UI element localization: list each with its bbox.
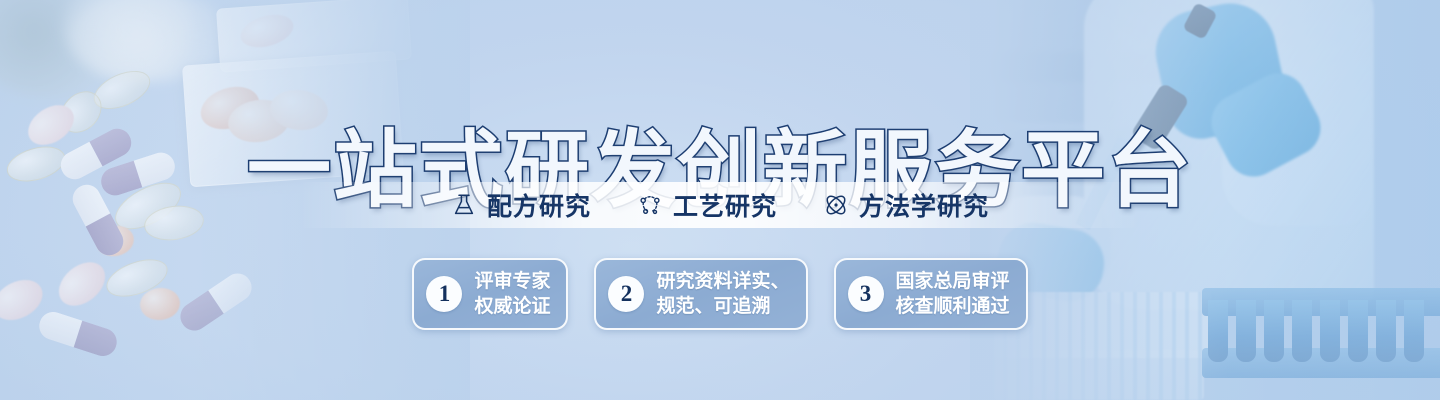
molecule-icon: [637, 192, 663, 218]
badge-text-line2: 核查顺利通过: [896, 296, 1010, 317]
feature-badge-3[interactable]: 3 国家总局审评 核查顺利通过: [834, 258, 1028, 330]
badge-number: 2: [608, 276, 644, 312]
atom-icon: [823, 192, 849, 218]
service-label: 工艺研究: [673, 187, 777, 223]
badge-text: 国家总局审评 核查顺利通过: [896, 269, 1010, 319]
badge-number: 3: [848, 276, 884, 312]
service-item-process[interactable]: 工艺研究: [637, 187, 777, 223]
service-item-methodology[interactable]: 方法学研究: [823, 187, 989, 223]
service-list: 配方研究 工艺研究: [0, 182, 1440, 228]
badge-text-line1: 研究资料详实、: [656, 271, 789, 292]
badge-text-line2: 规范、可追溯: [656, 296, 770, 317]
feature-badge-2[interactable]: 2 研究资料详实、 规范、可追溯: [594, 258, 807, 330]
badge-number: 1: [426, 276, 462, 312]
service-label: 配方研究: [487, 187, 591, 223]
flask-icon: [451, 192, 477, 218]
badge-text-line2: 权威论证: [474, 296, 550, 317]
badge-text-line1: 国家总局审评: [896, 271, 1010, 292]
badge-text: 评审专家 权威论证: [474, 269, 550, 319]
badge-text-line1: 评审专家: [474, 271, 550, 292]
feature-badge-1[interactable]: 1 评审专家 权威论证: [412, 258, 568, 330]
promo-banner: 一站式研发创新服务平台 配方研究: [0, 0, 1440, 400]
badge-text: 研究资料详实、 规范、可追溯: [656, 269, 789, 319]
service-label: 方法学研究: [859, 187, 989, 223]
feature-badge-list: 1 评审专家 权威论证 2 研究资料详实、 规范、可追溯 3 国家总局审评 核查…: [0, 258, 1440, 330]
service-item-formulation[interactable]: 配方研究: [451, 187, 591, 223]
banner-content: 一站式研发创新服务平台 配方研究: [0, 0, 1440, 400]
